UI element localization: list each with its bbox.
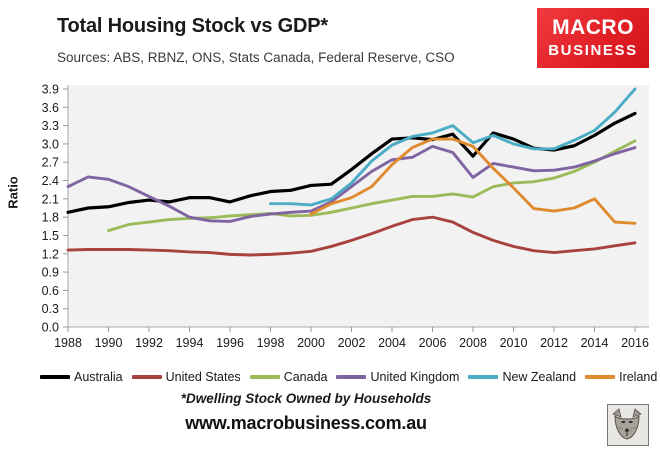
y-tick-label: 3.9 <box>42 83 59 97</box>
y-tick-label: 1.5 <box>42 229 59 243</box>
x-tick-label: 2010 <box>500 336 528 350</box>
legend-label: United Kingdom <box>370 370 459 384</box>
legend-swatch-icon <box>336 375 366 379</box>
x-tick-label: 2012 <box>540 336 568 350</box>
x-tick-label: 1998 <box>257 336 285 350</box>
chart-legend: AustraliaUnited StatesCanadaUnited Kingd… <box>40 369 640 385</box>
legend-label: Ireland <box>619 370 657 384</box>
legend-label: United States <box>166 370 241 384</box>
legend-item-ireland[interactable]: Ireland <box>585 370 657 384</box>
y-tick-label: 3.0 <box>42 137 59 151</box>
y-tick-label: 3.3 <box>42 119 59 133</box>
x-tick-label: 1988 <box>54 336 82 350</box>
chart-container: Total Housing Stock vs GDP* Sources: ABS… <box>0 0 660 450</box>
x-tick-label: 1994 <box>176 336 204 350</box>
y-tick-label: 1.2 <box>42 247 59 261</box>
legend-swatch-icon <box>132 375 162 379</box>
fox-mascot-icon <box>607 404 649 446</box>
legend-item-united-states[interactable]: United States <box>132 370 241 384</box>
y-tick-label: 0.6 <box>42 284 59 298</box>
x-tick-label: 2014 <box>581 336 609 350</box>
y-tick-label: 0.9 <box>42 266 59 280</box>
website-url: www.macrobusiness.com.au <box>0 413 612 434</box>
legend-item-new-zealand[interactable]: New Zealand <box>468 370 576 384</box>
y-tick-label: 2.7 <box>42 156 59 170</box>
legend-label: New Zealand <box>502 370 576 384</box>
x-tick-label: 2016 <box>621 336 649 350</box>
x-tick-label: 2000 <box>297 336 325 350</box>
x-tick-label: 2004 <box>378 336 406 350</box>
y-tick-label: 0.0 <box>42 321 59 335</box>
legend-swatch-icon <box>468 375 498 379</box>
legend-label: Australia <box>74 370 123 384</box>
x-tick-label: 1992 <box>135 336 163 350</box>
y-tick-label: 0.3 <box>42 302 59 316</box>
legend-item-australia[interactable]: Australia <box>40 370 123 384</box>
legend-label: Canada <box>284 370 328 384</box>
x-tick-label: 1996 <box>216 336 244 350</box>
chart-footnote: *Dwelling Stock Owned by Households <box>0 391 612 406</box>
legend-swatch-icon <box>585 375 615 379</box>
y-tick-label: 2.1 <box>42 192 59 206</box>
y-tick-label: 3.6 <box>42 101 59 115</box>
x-tick-label: 2008 <box>459 336 487 350</box>
x-tick-label: 2002 <box>338 336 366 350</box>
y-tick-label: 2.4 <box>42 174 59 188</box>
legend-swatch-icon <box>250 375 280 379</box>
plot-area: 0.00.30.60.91.21.51.82.12.42.73.03.33.63… <box>0 0 660 370</box>
legend-swatch-icon <box>40 375 70 379</box>
legend-item-canada[interactable]: Canada <box>250 370 328 384</box>
x-tick-label: 2006 <box>419 336 447 350</box>
x-tick-label: 1990 <box>95 336 123 350</box>
y-tick-label: 1.8 <box>42 211 59 225</box>
legend-item-united-kingdom[interactable]: United Kingdom <box>336 370 459 384</box>
